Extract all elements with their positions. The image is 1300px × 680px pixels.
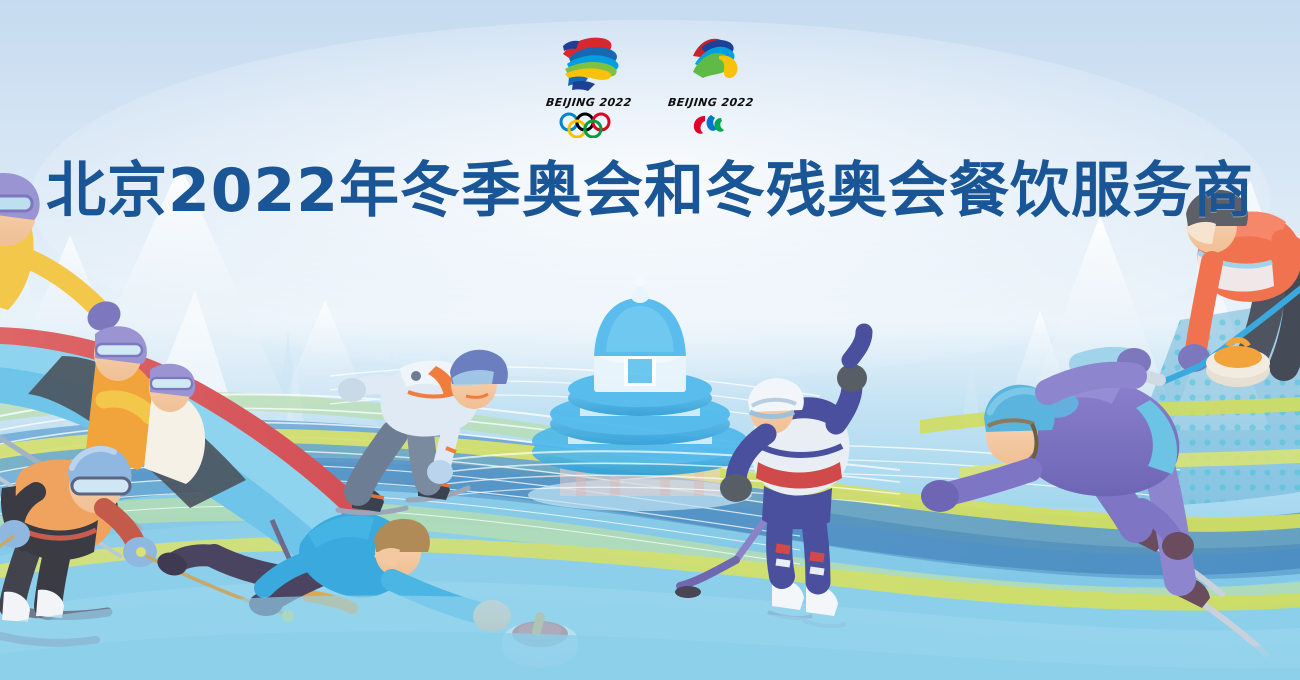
bobsled-athlete-back — [144, 364, 205, 484]
olympic-wordmark: BEIJING 2022 — [545, 96, 632, 109]
curling-stone-red — [502, 611, 578, 668]
athlete-ice-hockey-player — [675, 332, 867, 626]
paralympic-wordmark: BEIJING 2022 — [667, 96, 754, 109]
athlete-curler-delivery — [154, 512, 578, 668]
conifer-shapes — [276, 330, 402, 430]
athlete-speed-skater — [338, 350, 508, 513]
page-title: 北京2022年冬季奥会和冬残奥会餐饮服务商 — [0, 142, 1300, 229]
athlete-bobsled-team — [0, 173, 370, 560]
green-bands — [0, 392, 1300, 609]
paralympic-emblem-mark — [665, 32, 757, 94]
ice-waves — [0, 427, 1300, 680]
deep-blue-wave — [0, 419, 1300, 579]
emblem-group: BEIJING 2022 BEIJING 2022 — [0, 32, 1300, 138]
curling-stone-yellow — [1206, 340, 1270, 387]
athlete-alpine-skier — [0, 446, 294, 643]
olympic-emblem: BEIJING 2022 — [539, 32, 639, 138]
beijing-2022-banner: BEIJING 2022 BEIJING 2022 — [0, 0, 1300, 680]
agitos-icon — [665, 112, 757, 138]
bobsled-athlete-middle — [86, 326, 160, 470]
conifer-shapes-right — [962, 352, 1300, 425]
temple-of-heaven — [528, 277, 752, 511]
halftone-panel-right — [1060, 300, 1300, 640]
olympic-emblem-mark — [543, 32, 635, 94]
athlete-speed-skater-long-track — [921, 375, 1266, 654]
paralympic-emblem: BEIJING 2022 — [661, 32, 761, 138]
ribbon-accents — [0, 396, 1300, 611]
olympic-rings-icon — [543, 112, 635, 138]
speed-lines — [0, 367, 1180, 564]
overlay-sweep-lines — [430, 451, 900, 506]
